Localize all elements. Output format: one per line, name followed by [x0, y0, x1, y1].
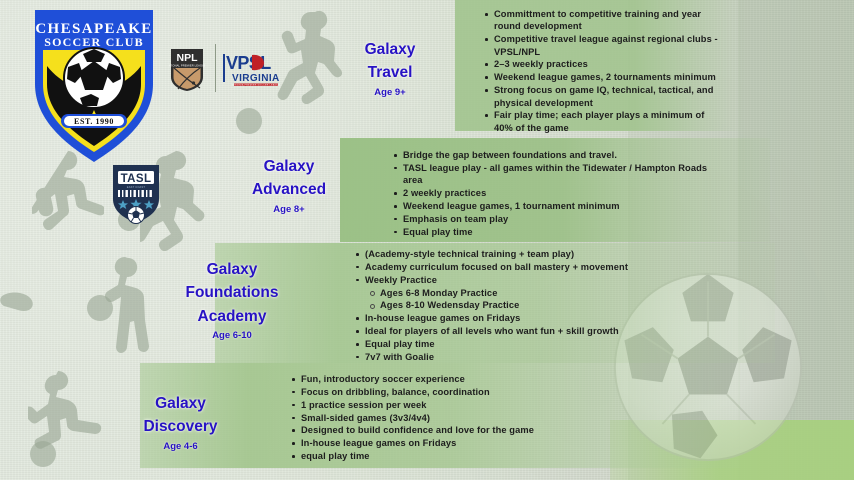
program-panel-galaxy-foundations-academy: (Academy-style technical training + team… — [215, 243, 775, 363]
crest-established-year: EST. 1990 — [74, 117, 114, 126]
list-item: In-house league games on Fridays — [290, 437, 590, 449]
list-item: 7v7 with Goalie — [354, 351, 654, 363]
list-item-sub: Ages 8-10 Wedensday Practice — [354, 299, 654, 311]
list-item: equal play time — [290, 450, 590, 462]
list-item: (Academy-style technical training + team… — [354, 248, 654, 260]
poster-canvas: CHESAPEAKE SOCCER CLUB EST. 1990 NPL NAT… — [0, 0, 854, 480]
list-item: Equal play time — [392, 226, 722, 238]
program-title-galaxy-advanced: Galaxy Advanced Age 8+ — [243, 155, 335, 215]
title-line: Academy — [172, 305, 292, 328]
program-age-range: Age 6-10 — [172, 330, 292, 341]
title-line: Foundations — [172, 281, 292, 304]
program-age-range: Age 4-6 — [123, 441, 238, 452]
npl-logo-text: NPL — [177, 52, 199, 64]
program-panel-galaxy-advanced: Bridge the gap between foundations and t… — [340, 138, 770, 242]
list-item: Ideal for players of all levels who want… — [354, 325, 654, 337]
title-line: Galaxy — [172, 258, 292, 281]
list-item: Focus on dribbling, balance, coordinatio… — [290, 386, 590, 398]
list-item-sub: Ages 6-8 Monday Practice — [354, 287, 654, 299]
list-item: 2–3 weekly practices — [483, 58, 723, 70]
silhouette-ball-juggle — [87, 295, 113, 321]
list-item: Competitive travel league against region… — [483, 33, 723, 58]
program-title-galaxy-discovery: Galaxy Discovery Age 4-6 — [123, 392, 238, 452]
list-item: Committment to competitive training and … — [483, 8, 723, 33]
bullet-list-galaxy-foundations-academy: (Academy-style technical training + team… — [354, 248, 654, 364]
list-item: Bridge the gap between foundations and t… — [392, 149, 722, 161]
list-item: Weekend league games, 2 tournaments mini… — [483, 71, 723, 83]
tasl-logo-subtext: EAST COAST — [127, 185, 146, 189]
bullet-list-galaxy-discovery: Fun, introductory soccer experience Focu… — [290, 373, 590, 463]
bullet-list-galaxy-advanced: Bridge the gap between foundations and t… — [392, 149, 722, 239]
list-item: TASL league play - all games within the … — [392, 162, 722, 187]
list-item: Fun, introductory soccer experience — [290, 373, 590, 385]
list-item: Equal play time — [354, 338, 654, 350]
list-item: Academy curriculum focused on ball maste… — [354, 261, 654, 273]
npl-logo: NPL NATIONAL PREMIER LEAGUES — [169, 47, 205, 93]
title-line: Galaxy — [123, 392, 238, 415]
vpsl-logo-text: VPSL — [226, 53, 271, 73]
program-title-galaxy-foundations-academy: Galaxy Foundations Academy Age 6-10 — [172, 258, 292, 341]
list-item: Fair play time; each player plays a mini… — [483, 109, 723, 134]
list-item: Strong focus on game IQ, technical, tact… — [483, 84, 723, 109]
list-item: 1 practice session per week — [290, 399, 590, 411]
vpsl-logo-subtext: VIRGINIA — [232, 73, 280, 84]
title-line: Advanced — [243, 178, 335, 201]
list-item: Small-sided games (3v3/4v4) — [290, 412, 590, 424]
title-line: Galaxy — [345, 38, 435, 61]
title-line: Galaxy — [243, 155, 335, 178]
chesapeake-soccer-club-crest: CHESAPEAKE SOCCER CLUB EST. 1990 — [27, 6, 161, 166]
vpsl-logo: VPSL VIRGINIA VIRGINIA PREMIER SOCCER LE… — [222, 52, 296, 88]
silhouette-ball-small — [236, 108, 262, 134]
tasl-logo-text: TASL — [121, 173, 152, 185]
vpsl-logo-tagline: VIRGINIA PREMIER SOCCER LEAGUE — [232, 84, 281, 87]
silhouette-leg-far-left — [0, 290, 34, 330]
logo-divider — [215, 44, 216, 92]
npl-logo-subtext: NATIONAL PREMIER LEAGUES — [169, 64, 205, 68]
program-age-range: Age 9+ — [345, 87, 435, 98]
crest-club-name-bottom: SOCCER CLUB — [44, 35, 144, 49]
list-item: Weekly Practice — [354, 274, 654, 286]
title-line: Discovery — [123, 415, 238, 438]
silhouette-ball-bottom — [30, 441, 56, 467]
program-panel-galaxy-travel: Committment to competitive training and … — [455, 0, 745, 131]
bullet-list-galaxy-travel: Committment to competitive training and … — [483, 8, 723, 135]
program-title-galaxy-travel: Galaxy Travel Age 9+ — [345, 38, 435, 98]
list-item: Designed to build confidence and love fo… — [290, 424, 590, 436]
list-item: In-house league games on Fridays — [354, 312, 654, 324]
list-item: Emphasis on team play — [392, 213, 722, 225]
list-item: Weekend league games, 1 tournament minim… — [392, 200, 722, 212]
tasl-logo: TASL EAST COAST — [110, 163, 162, 225]
list-item: 2 weekly practices — [392, 187, 722, 199]
program-age-range: Age 8+ — [243, 204, 335, 215]
title-line: Travel — [345, 61, 435, 84]
